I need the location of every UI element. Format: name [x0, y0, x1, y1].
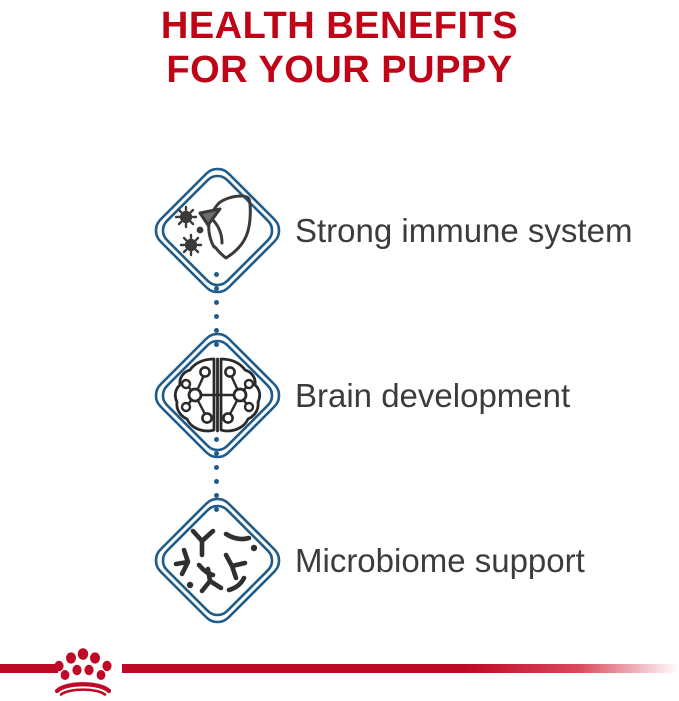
connector-dot — [214, 479, 219, 484]
page-title-line-1: HEALTH BENEFITS — [0, 4, 679, 48]
benefit-item-immune: Strong immune system — [0, 148, 679, 313]
connector-dot — [214, 465, 219, 470]
benefit-label-microbiome: Microbiome support — [295, 538, 585, 584]
connector-dot — [214, 314, 219, 319]
connector-dot — [214, 286, 219, 291]
benefit-label-immune: Strong immune system — [295, 207, 632, 255]
connector-dot — [214, 328, 219, 333]
royal-canin-crown-logo — [48, 642, 118, 696]
page-title-line-2: FOR YOUR PUPPY — [0, 48, 679, 92]
benefits-list: Strong immune system — [0, 148, 679, 643]
connector-dots-2 — [214, 437, 220, 521]
footer-rule-right — [122, 664, 679, 673]
benefit-item-brain: Brain development — [0, 313, 679, 478]
connector-dot — [214, 507, 219, 512]
connector-dot — [214, 437, 219, 442]
connector-dot — [214, 300, 219, 305]
benefit-label-brain: Brain development — [295, 373, 570, 419]
connector-dot — [214, 272, 219, 277]
page-title: HEALTH BENEFITS FOR YOUR PUPPY — [0, 0, 679, 92]
connector-dot — [214, 342, 219, 347]
benefit-item-microbiome: Microbiome support — [0, 478, 679, 643]
connector-dot — [214, 493, 219, 498]
connector-dots-1 — [214, 272, 220, 356]
footer-logo-bar — [0, 630, 679, 696]
connector-dot — [214, 451, 219, 456]
